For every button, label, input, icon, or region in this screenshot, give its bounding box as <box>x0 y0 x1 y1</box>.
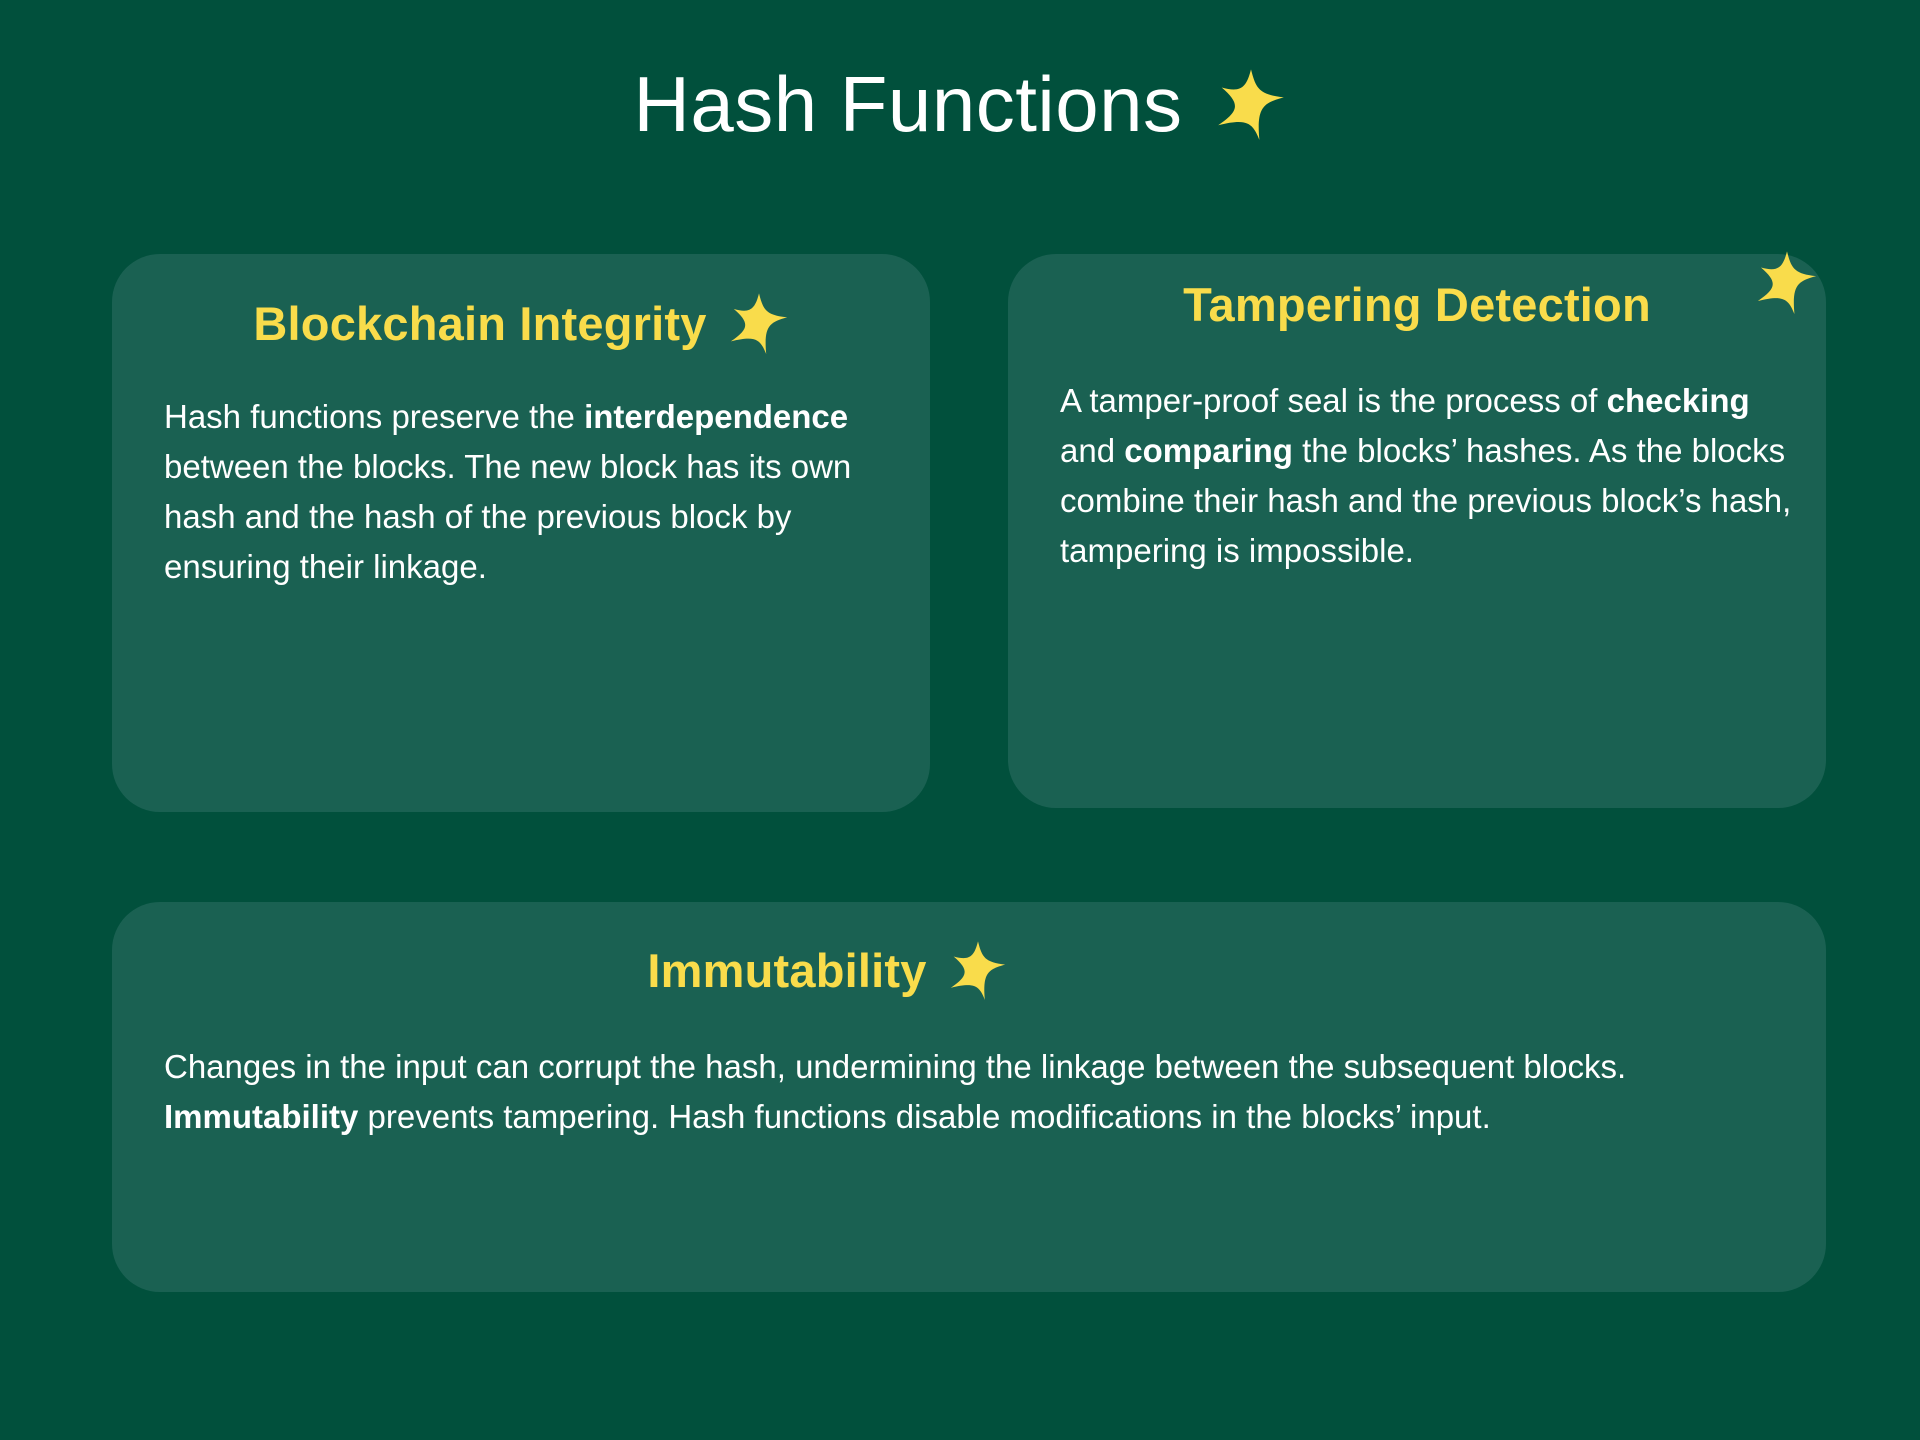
card-body-tampering-detection: A tamper-proof seal is the process of ch… <box>1060 376 1796 577</box>
sparkle-star-icon <box>729 292 789 356</box>
slide-title-row: Hash Functions <box>0 62 1920 148</box>
card-title-immutability: Immutability <box>647 944 926 998</box>
card-header-blockchain-integrity: Blockchain Integrity <box>112 292 930 356</box>
card-blockchain-integrity: Blockchain Integrity Hash functions pres… <box>112 254 930 812</box>
sparkle-star-icon <box>949 940 1007 1002</box>
card-tampering-detection: Tampering Detection A tamper-proof seal … <box>1008 254 1826 808</box>
card-title-blockchain-integrity: Blockchain Integrity <box>253 297 706 351</box>
card-immutability: Immutability Changes in the input can co… <box>112 902 1826 1292</box>
slide-canvas: Hash Functions Blockchain Integrity Hash… <box>0 0 1920 1440</box>
sparkle-star-icon <box>1216 68 1286 142</box>
card-header-immutability: Immutability <box>112 940 1542 1002</box>
card-body-blockchain-integrity: Hash functions preserve the interdepende… <box>164 392 878 593</box>
card-header-tampering-detection: Tampering Detection <box>1008 278 1826 332</box>
page-title: Hash Functions <box>634 62 1183 148</box>
card-body-immutability: Changes in the input can corrupt the has… <box>164 1042 1794 1142</box>
sparkle-star-icon <box>1756 250 1818 316</box>
card-title-tampering-detection: Tampering Detection <box>1183 278 1651 332</box>
